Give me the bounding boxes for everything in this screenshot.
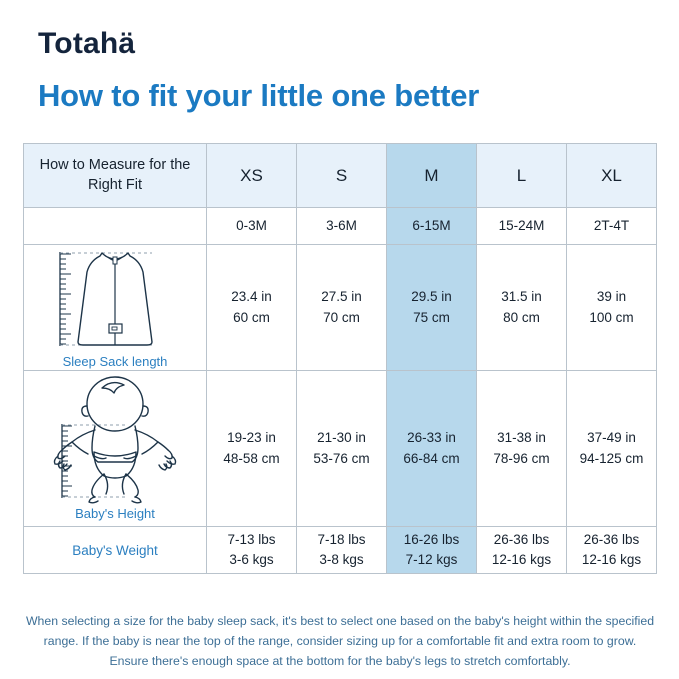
footer-note: When selecting a size for the baby sleep… (24, 612, 656, 672)
weight-m: 16-26 lbs 7-12 kgs (387, 527, 477, 574)
header-size-xl[interactable]: XL (567, 144, 657, 208)
header-size-l[interactable]: L (477, 144, 567, 208)
sleep-sack-length-caption: Sleep Sack length (63, 354, 168, 369)
height-xs: 19-23 in 48-58 cm (207, 371, 297, 527)
length-xl: 39 in 100 cm (567, 245, 657, 371)
table-row-age: 0-3M 3-6M 6-15M 15-24M 2T-4T (24, 208, 657, 245)
age-m: 6-15M (387, 208, 477, 245)
table-header-row: How to Measure for the Right Fit XS S M … (24, 144, 657, 208)
brand-logo: Totahä (38, 29, 135, 59)
length-m: 29.5 in 75 cm (387, 245, 477, 371)
table-row-sleep-sack-length: Sleep Sack length 23.4 in 60 cm 27.5 in … (24, 245, 657, 371)
height-xl: 37-49 in 94-125 cm (567, 371, 657, 527)
weight-l: 26-36 lbs 12-16 kgs (477, 527, 567, 574)
age-xs: 0-3M (207, 208, 297, 245)
baby-illustration (40, 376, 190, 504)
length-xs: 23.4 in 60 cm (207, 245, 297, 371)
weight-xl: 26-36 lbs 12-16 kgs (567, 527, 657, 574)
page-title: How to fit your little one better (38, 78, 479, 114)
age-row-label-empty (24, 208, 207, 245)
header-size-m[interactable]: M (387, 144, 477, 208)
age-xl: 2T-4T (567, 208, 657, 245)
table-row-baby-height: Baby's Height 19-23 in 48-58 cm 21-30 in… (24, 371, 657, 527)
baby-height-label-cell: Baby's Height (24, 371, 207, 527)
table-row-baby-weight: Baby's Weight 7-13 lbs 3-6 kgs 7-18 lbs … (24, 527, 657, 574)
height-m: 26-33 in 66-84 cm (387, 371, 477, 527)
length-s: 27.5 in 70 cm (297, 245, 387, 371)
baby-height-caption: Baby's Height (75, 506, 155, 521)
size-chart-table: How to Measure for the Right Fit XS S M … (23, 143, 657, 574)
age-s: 3-6M (297, 208, 387, 245)
length-l: 31.5 in 80 cm (477, 245, 567, 371)
baby-weight-label: Baby's Weight (24, 527, 207, 574)
sleep-sack-illustration (40, 246, 190, 352)
height-s: 21-30 in 53-76 cm (297, 371, 387, 527)
header-size-xs[interactable]: XS (207, 144, 297, 208)
header-measure-label: How to Measure for the Right Fit (24, 144, 207, 208)
size-chart-page: Totahä How to fit your little one better… (0, 0, 679, 679)
height-l: 31-38 in 78-96 cm (477, 371, 567, 527)
weight-s: 7-18 lbs 3-8 kgs (297, 527, 387, 574)
sleep-sack-length-label-cell: Sleep Sack length (24, 245, 207, 371)
header-size-s[interactable]: S (297, 144, 387, 208)
weight-xs: 7-13 lbs 3-6 kgs (207, 527, 297, 574)
age-l: 15-24M (477, 208, 567, 245)
